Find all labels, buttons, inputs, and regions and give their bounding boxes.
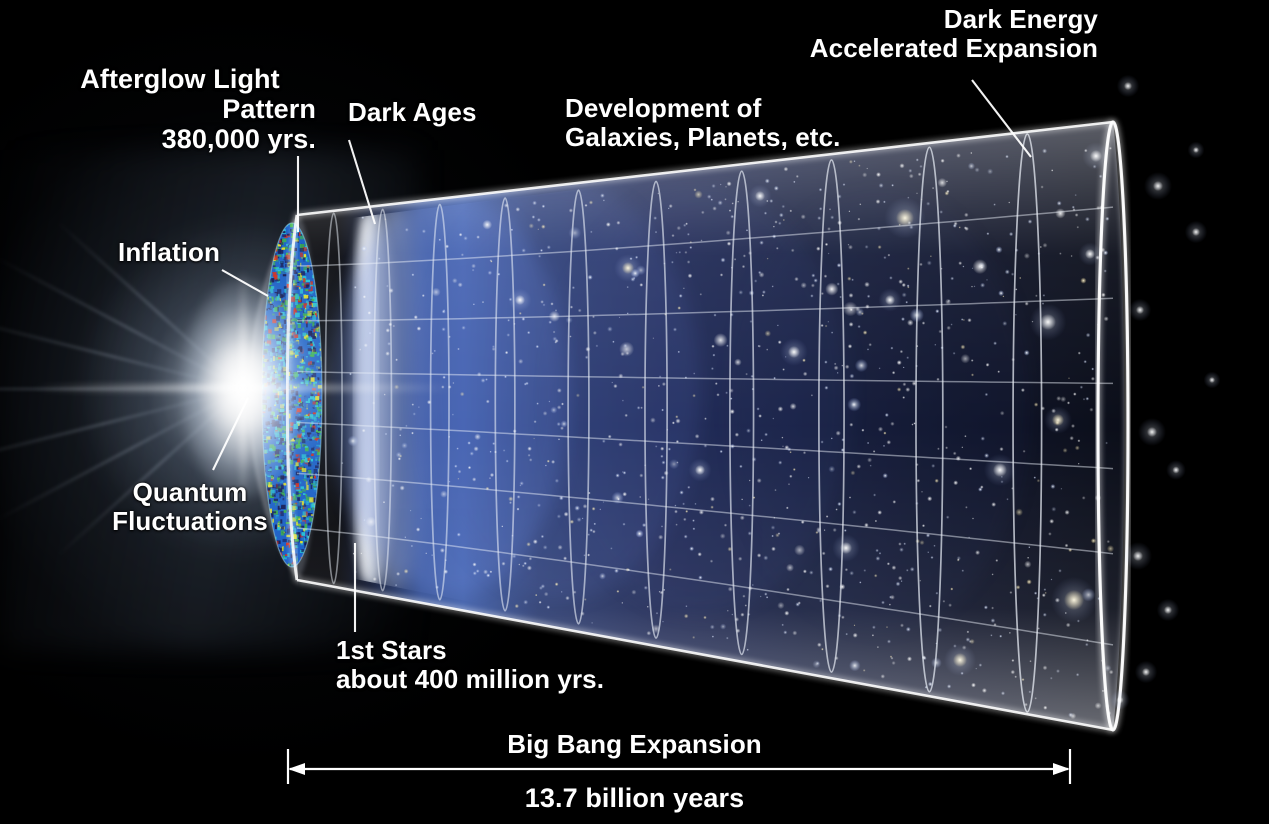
label-inflation-line1: Inflation (118, 237, 220, 267)
label-afterglow-light-pattern: Afterglow Light Pattern 380,000 yrs. (44, 64, 316, 155)
label-quantum-line2: Fluctuations (74, 507, 306, 536)
label-first-stars: 1st Stars about 400 million yrs. (336, 636, 604, 694)
label-development-line1: Development of (565, 94, 840, 123)
label-inflation: Inflation (118, 238, 220, 267)
label-first-stars-line2: about 400 million yrs. (336, 665, 604, 694)
label-quantum-line1: Quantum (74, 478, 306, 507)
label-dark-energy-line2: Accelerated Expansion (800, 34, 1098, 63)
label-afterglow-line2: Pattern (44, 94, 316, 124)
label-development-of-galaxies: Development of Galaxies, Planets, etc. (565, 94, 840, 152)
label-big-bang-expansion: Big Bang Expansion (0, 730, 1269, 759)
label-afterglow-line1: Afterglow Light (44, 64, 316, 94)
label-dark-ages: Dark Ages (348, 98, 477, 127)
label-development-line2: Galaxies, Planets, etc. (565, 123, 840, 152)
label-quantum-fluctuations: Quantum Fluctuations (74, 478, 306, 536)
label-dark-ages-line1: Dark Ages (348, 97, 477, 127)
label-afterglow-line3: 380,000 yrs. (44, 124, 316, 154)
label-dark-energy: Dark Energy Accelerated Expansion (800, 5, 1098, 63)
label-total-years: 13.7 billion years (0, 783, 1269, 813)
label-first-stars-line1: 1st Stars (336, 636, 604, 665)
label-dark-energy-line1: Dark Energy (800, 5, 1098, 34)
universe-timeline-figure: Afterglow Light Pattern 380,000 yrs. Dar… (0, 0, 1269, 824)
